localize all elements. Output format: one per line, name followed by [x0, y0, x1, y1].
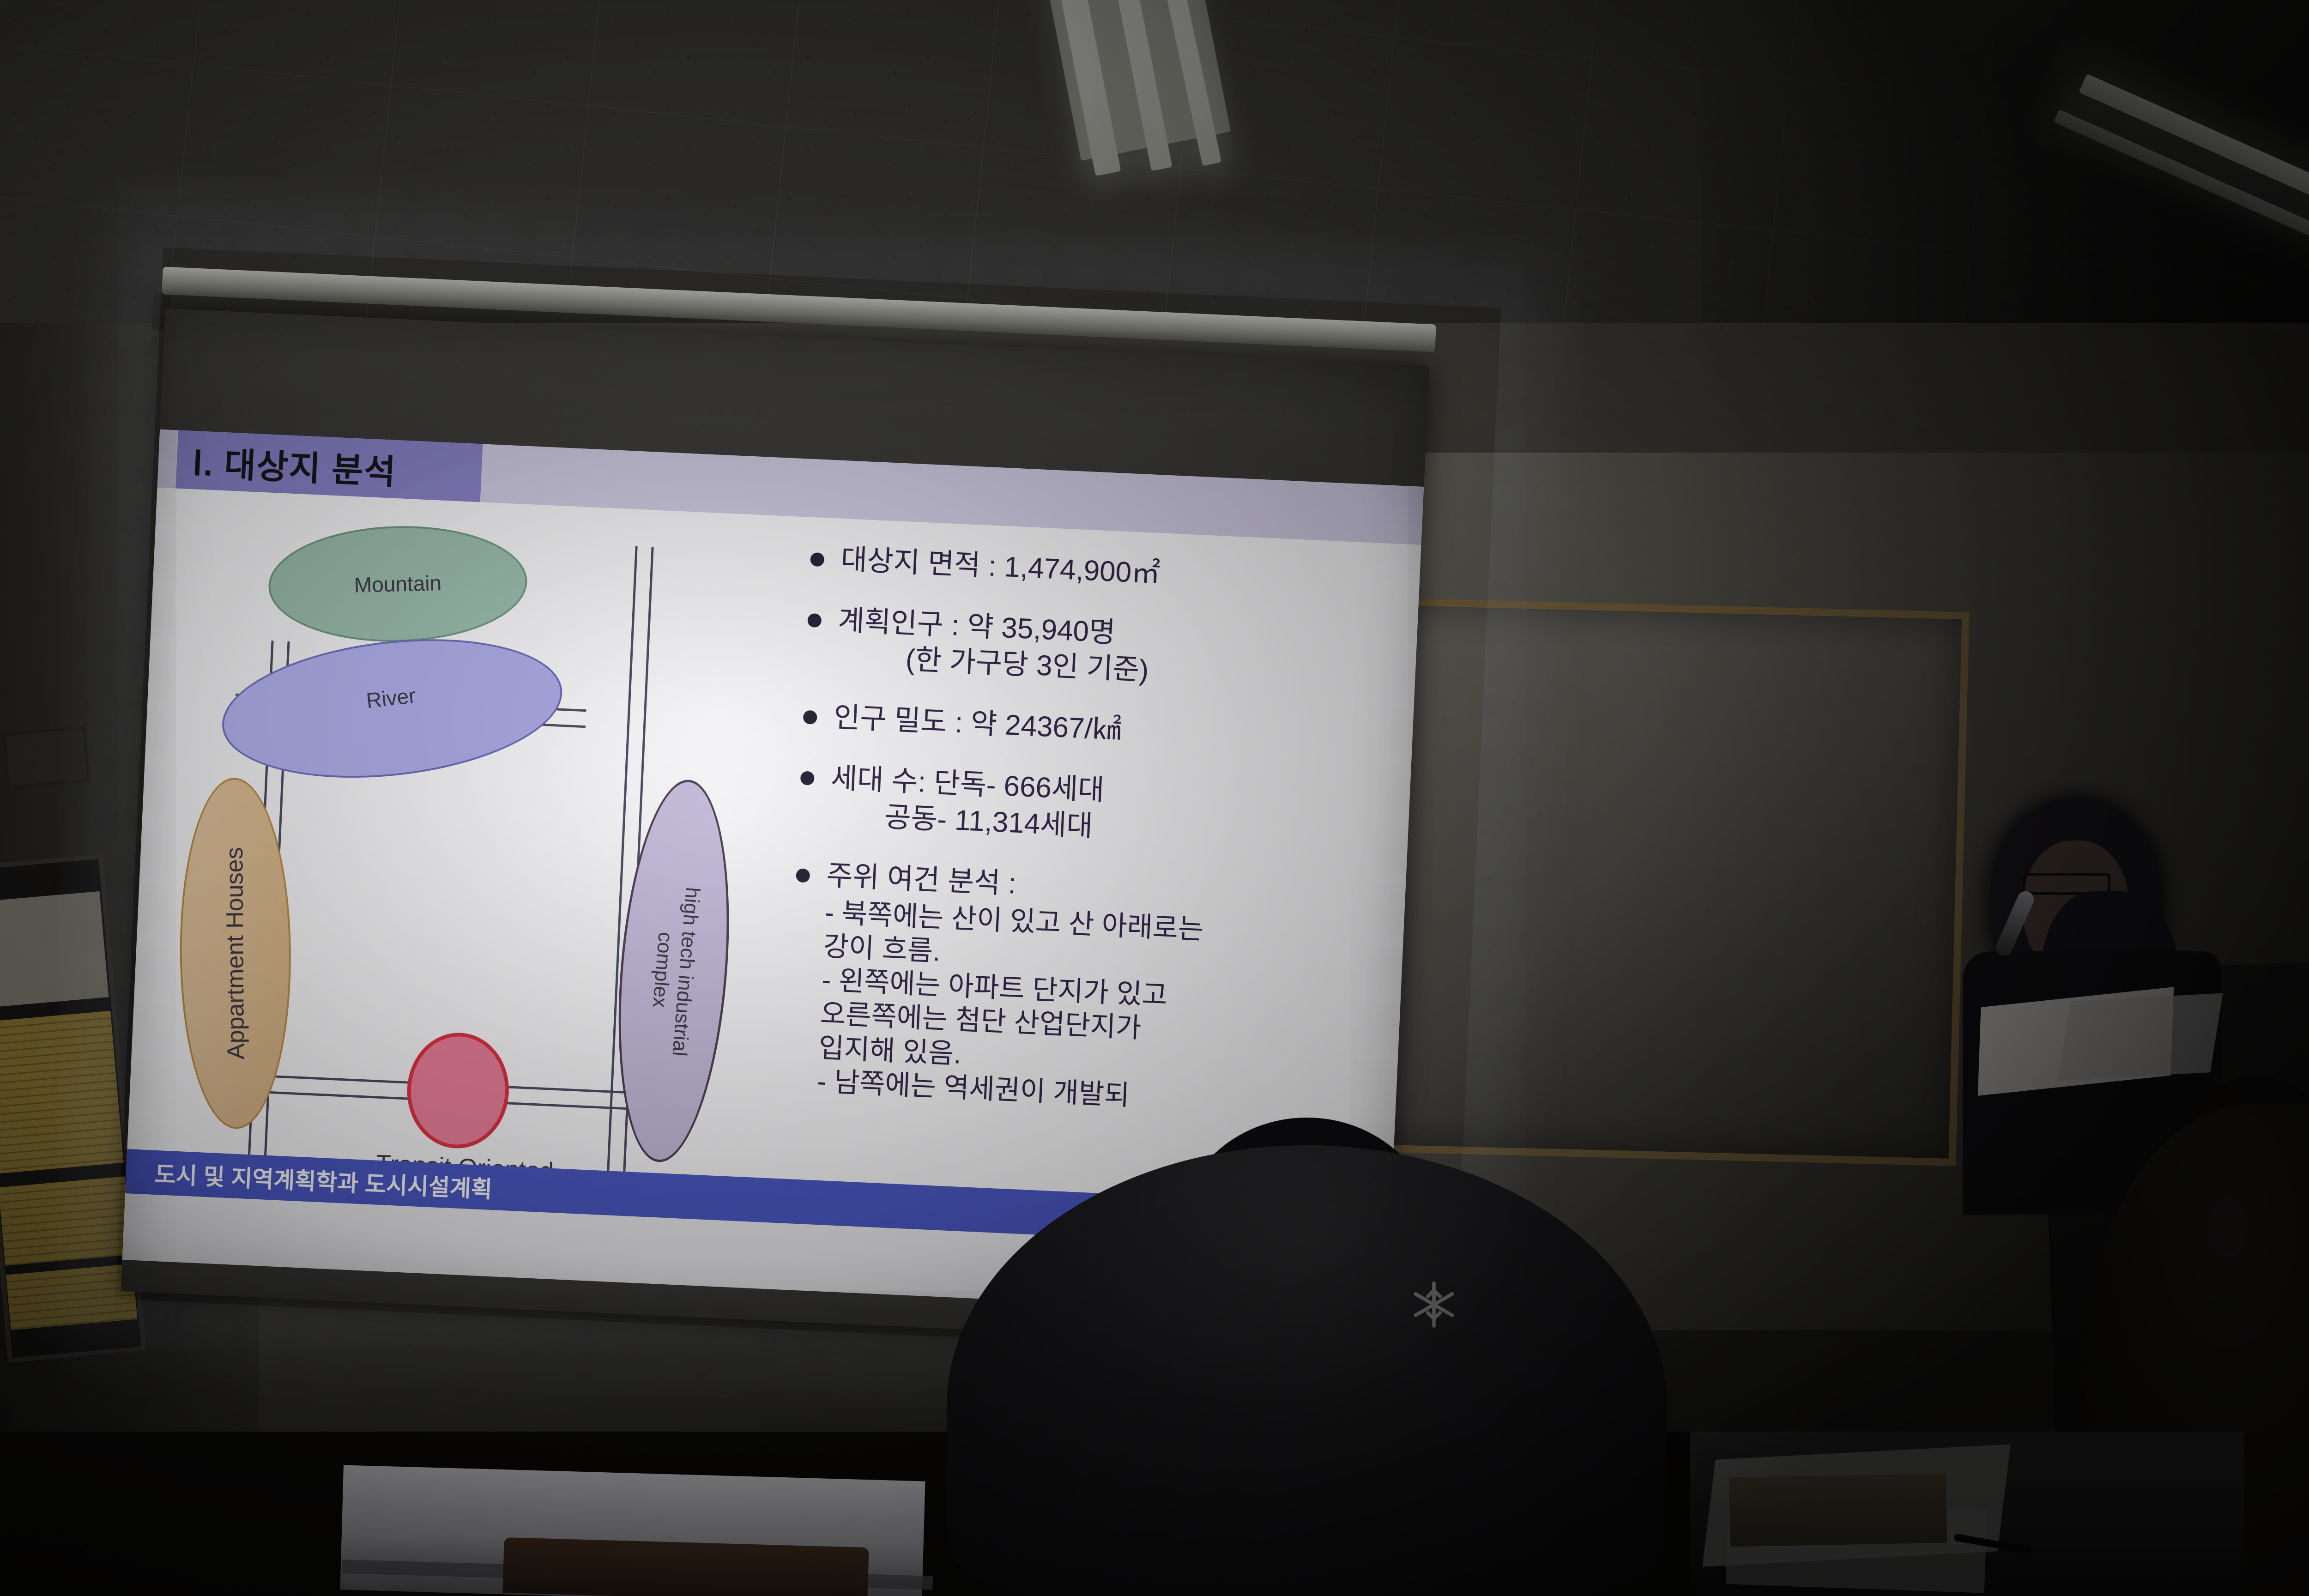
slide-body: Mountain River Appartment Houses high te… [125, 488, 1421, 1251]
diagram-ellipse-transit-oriented [405, 1031, 511, 1151]
bullet-item: 주위 여건 분석 : - 북쪽에는 산이 있고 산 아래로는 강이 흐름. - … [786, 856, 1373, 1123]
site-context-diagram: Mountain River Appartment Houses high te… [145, 497, 784, 1203]
page-title: Ⅰ. 대상지 분석 [192, 435, 398, 494]
bullet-dot-icon [807, 613, 822, 628]
diagram-label-mountain: Mountain [354, 570, 441, 598]
bullet-item: 인구 밀도 : 약 24367/㎢ [803, 698, 1381, 761]
bullet-dot-icon [810, 552, 824, 567]
bullet-dot-icon [796, 868, 810, 883]
wall-poster [2, 726, 90, 788]
notice-schedule-sheet [0, 1011, 124, 1174]
diagram-label-apartment-houses: Appartment Houses [221, 847, 250, 1059]
diagram-label-river: River [365, 683, 417, 713]
bullet-line: 대상지 면적 : 1,474,900㎡ [840, 542, 1388, 603]
bullet-dot-icon [803, 710, 817, 725]
chair-back [502, 1537, 869, 1596]
desk-box [1729, 1474, 1947, 1547]
presenter-script-paper [2058, 993, 2223, 1081]
notice-schedule-sheet [6, 1264, 137, 1330]
bullet-sublist: - 북쪽에는 산이 있고 산 아래로는 강이 흐름. - 왼쪽에는 아파트 단지… [816, 895, 1372, 1123]
notice-paper [0, 891, 109, 1008]
whiteboard [1379, 598, 1970, 1166]
bullet-item: 대상지 면적 : 1,474,900㎡ [810, 540, 1388, 603]
diagram-ellipse-mountain: Mountain [267, 523, 528, 645]
bullet-line: 인구 밀도 : 약 24367/㎢ [833, 700, 1381, 761]
slide-footer-text: 도시 및 지역계획학과 도시시설계획 [154, 1156, 493, 1204]
bullet-dot-icon [800, 771, 815, 786]
bullet-item: 세대 수: 단독- 666세대 공동- 11,314세대 [798, 759, 1378, 858]
notice-schedule-sheet [0, 1176, 132, 1265]
bullet-item: 계획인구 : 약 35,940명 (한 가구당 3인 기준) [805, 601, 1385, 700]
slide-bullet-list: 대상지 면적 : 1,474,900㎡ 계획인구 : 약 35,940명 (한 … [785, 540, 1388, 1148]
snowflake-icon [1408, 1279, 1459, 1330]
ceiling-shadow [1701, 0, 2309, 351]
diagram-label-high-tech-complex: high tech industrialcomplex [644, 885, 704, 1058]
classroom-photo-scene: Ⅰ. 대상지 분석 Mountain River [0, 0, 2309, 1596]
